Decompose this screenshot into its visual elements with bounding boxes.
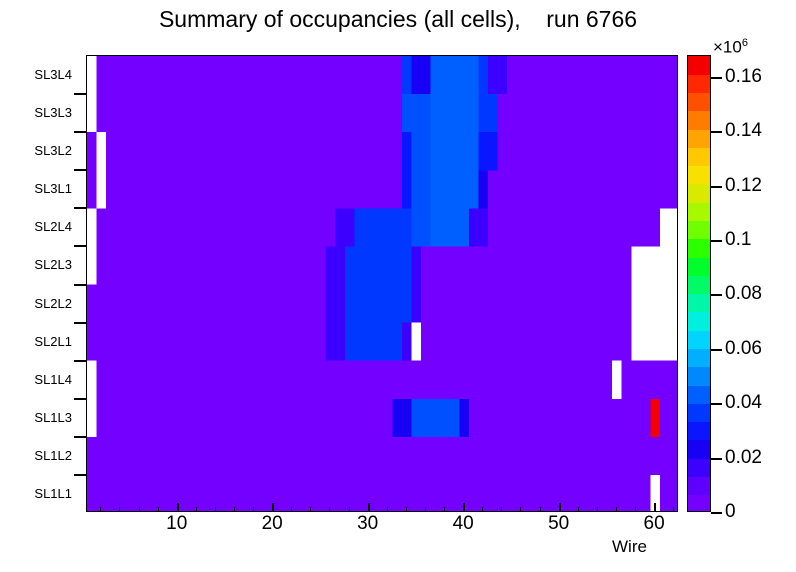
y-axis-tick-label: SL2L1	[0, 335, 72, 348]
x-axis-tick-label: 10	[147, 514, 207, 533]
x-axis-tick-minor	[215, 507, 216, 512]
color-scale-swatch	[688, 129, 710, 148]
y-axis-tick-label: SL3L2	[0, 144, 72, 157]
heatmap-cell	[631, 285, 678, 323]
y-axis-tick-label: SL1L3	[0, 411, 72, 424]
heatmap-cell	[431, 56, 479, 94]
heatmap-cell	[87, 208, 97, 246]
heatmap-cell	[412, 56, 431, 94]
heatmap-cell	[87, 246, 97, 284]
x-axis-tick-minor	[158, 507, 159, 512]
root-canvas: Summary of occupancies (all cells), run …	[0, 0, 796, 572]
color-scale-exponent-base: ×10	[713, 38, 742, 57]
heatmap-cell	[412, 323, 422, 361]
x-axis-tick-minor	[119, 507, 120, 512]
y-axis-tick-mark	[74, 169, 86, 171]
heatmap-cell	[87, 285, 326, 323]
color-scale-tick-mark	[711, 349, 722, 351]
x-axis-tick-minor	[139, 507, 140, 512]
color-scale-exponent-power: 6	[742, 37, 748, 49]
color-scale-swatch	[688, 440, 710, 459]
x-axis-tick-label: 40	[433, 514, 493, 533]
y-axis-tick-label: SL3L1	[0, 182, 72, 195]
heatmap-cell	[326, 246, 345, 284]
color-scale-bar	[687, 55, 711, 512]
color-scale-swatch	[688, 221, 710, 240]
heatmap-cell	[459, 399, 469, 437]
heatmap-cell	[478, 132, 497, 170]
x-axis-tick-minor	[616, 507, 617, 512]
heatmap-cell	[87, 361, 97, 399]
color-scale-swatch	[688, 294, 710, 313]
x-axis-tick-label: 50	[529, 514, 589, 533]
y-axis-tick-mark	[74, 245, 86, 247]
heatmap-cell	[478, 94, 497, 132]
heatmap-cell	[87, 323, 326, 361]
heatmap-cell	[498, 132, 678, 170]
color-scale-tick-label: 0	[725, 502, 736, 521]
heatmap-cell	[412, 208, 431, 246]
x-axis-tick-minor	[100, 507, 101, 512]
color-scale-swatch	[688, 93, 710, 112]
heatmap-cell	[97, 56, 403, 94]
heatmap-cell	[345, 246, 412, 284]
x-axis-tick-major	[368, 503, 370, 512]
x-axis-tick-minor	[349, 507, 350, 512]
heatmap-plot-area[interactable]	[86, 55, 678, 512]
heatmap-cell	[412, 399, 460, 437]
x-axis-tick-minor	[406, 507, 407, 512]
heatmap-cell	[469, 208, 488, 246]
heatmap-cells	[87, 56, 678, 512]
heatmap-cell	[326, 323, 345, 361]
color-scale-swatch	[688, 111, 710, 130]
heatmap-cell	[660, 208, 678, 246]
x-axis-tick-label: 30	[338, 514, 398, 533]
x-axis-tick-minor	[234, 507, 235, 512]
color-scale-swatch	[688, 312, 710, 331]
heatmap-cell	[469, 399, 650, 437]
heatmap-cell	[97, 361, 613, 399]
heatmap-cell	[106, 170, 402, 208]
color-scale-tick-label: 0.02	[725, 448, 762, 467]
heatmap-cell	[402, 323, 412, 361]
heatmap-cell	[421, 285, 631, 323]
x-axis-tick-minor	[425, 507, 426, 512]
color-scale-swatch	[688, 348, 710, 367]
color-scale-swatch	[688, 476, 710, 495]
y-axis-tick-label: SL1L2	[0, 449, 72, 462]
x-axis-tick-minor	[520, 507, 521, 512]
heatmap-cell	[87, 94, 97, 132]
y-axis-tick-mark	[74, 398, 86, 400]
heatmap-cell	[87, 170, 97, 208]
y-axis-tick-mark	[74, 322, 86, 324]
heatmap-cell	[478, 56, 488, 94]
color-scale-swatch	[688, 257, 710, 276]
heatmap-cell	[402, 56, 412, 94]
color-scale-tick-mark	[711, 77, 722, 79]
x-axis-tick-minor	[635, 507, 636, 512]
color-scale-tick-mark	[711, 512, 722, 514]
x-axis-tick-minor	[501, 507, 502, 512]
heatmap-cell	[412, 246, 422, 284]
color-scale-tick-mark	[711, 458, 722, 460]
heatmap-cell	[498, 94, 678, 132]
heatmap-cell	[650, 399, 660, 437]
x-axis-tick-label: 20	[242, 514, 302, 533]
heatmap-cell	[431, 208, 469, 246]
color-scale-swatch	[688, 330, 710, 349]
color-scale-tick-label: 0.08	[725, 284, 762, 303]
x-axis-tick-minor	[444, 507, 445, 512]
y-axis-tick-mark	[74, 207, 86, 209]
heatmap-cell	[412, 132, 431, 170]
heatmap-cell	[412, 170, 431, 208]
x-axis-tick-major	[654, 503, 656, 512]
heatmap-cell	[97, 246, 326, 284]
heatmap-cell	[87, 437, 678, 475]
color-scale-tick-mark	[711, 403, 722, 405]
heatmap-cell	[87, 56, 97, 94]
heatmap-cell	[97, 208, 336, 246]
x-axis-tick-minor	[310, 507, 311, 512]
color-scale-tick-mark	[711, 294, 722, 296]
x-axis-tick-minor	[253, 507, 254, 512]
heatmap-cell	[431, 170, 479, 208]
color-scale-swatch	[688, 458, 710, 477]
x-axis-tick-major	[272, 503, 274, 512]
y-axis-tick-mark	[74, 360, 86, 362]
heatmap-cell	[354, 208, 411, 246]
x-axis-tick-major	[177, 503, 179, 512]
color-scale-swatch	[688, 202, 710, 221]
color-scale-tick-mark	[711, 240, 722, 242]
y-axis-tick-mark	[74, 436, 86, 438]
heatmap-cell	[97, 170, 107, 208]
heatmap-cell	[488, 208, 660, 246]
heatmap-cell	[431, 94, 479, 132]
heatmap-cell	[431, 132, 479, 170]
page-title: Summary of occupancies (all cells), run …	[0, 6, 796, 33]
heatmap-cell	[631, 323, 678, 361]
heatmap-cell	[87, 132, 97, 170]
y-axis-tick-mark	[74, 131, 86, 133]
color-scale-tick-label: 0.06	[725, 339, 762, 358]
color-scale-swatch	[688, 184, 710, 203]
heatmap-cell	[478, 170, 488, 208]
color-scale-swatch	[688, 56, 710, 75]
heatmap-cell	[393, 399, 412, 437]
x-axis-tick-major	[559, 503, 561, 512]
heatmap-cell	[402, 94, 431, 132]
x-axis-tick-major	[463, 503, 465, 512]
y-axis-tick-mark	[74, 284, 86, 286]
x-axis-tick-minor	[482, 507, 483, 512]
color-scale-swatch	[688, 495, 710, 512]
heatmap-cell	[335, 208, 354, 246]
heatmap-cell	[87, 399, 97, 437]
color-scale-swatch	[688, 367, 710, 386]
heatmap-cell	[488, 170, 678, 208]
x-axis-tick-minor	[196, 507, 197, 512]
color-scale-swatch	[688, 275, 710, 294]
color-scale-tick-mark	[711, 131, 722, 133]
heatmap-cell	[97, 94, 403, 132]
color-scale-swatch	[688, 422, 710, 441]
x-axis-tick-minor	[291, 507, 292, 512]
color-scale-swatch	[688, 239, 710, 258]
heatmap-cell	[631, 246, 678, 284]
y-axis-tick-label: SL2L2	[0, 297, 72, 310]
x-axis-tick-minor	[673, 507, 674, 512]
x-axis-tick-minor	[329, 507, 330, 512]
color-scale-tick-label: 0.12	[725, 176, 762, 195]
x-axis-tick-label: 60	[624, 514, 684, 533]
y-axis-tick-label: SL1L4	[0, 373, 72, 386]
heatmap-cell	[622, 361, 678, 399]
heatmap-cell	[326, 285, 345, 323]
heatmap-cell	[412, 285, 422, 323]
x-axis-tick-minor	[540, 507, 541, 512]
color-scale-tick-mark	[711, 186, 722, 188]
heatmap-cell	[488, 56, 507, 94]
color-scale-swatch	[688, 385, 710, 404]
color-scale-exponent: ×106	[713, 37, 748, 58]
color-scale-tick-label: 0.16	[725, 67, 762, 86]
color-scale-swatch	[688, 403, 710, 422]
x-axis-tick-minor	[597, 507, 598, 512]
heatmap-cell	[402, 170, 412, 208]
heatmap-cell	[507, 56, 678, 94]
x-axis-tick-minor	[387, 507, 388, 512]
heatmap-cell	[421, 246, 631, 284]
color-scale-tick-label: 0.04	[725, 393, 762, 412]
y-axis-tick-label: SL2L3	[0, 258, 72, 271]
heatmap-cell	[612, 361, 622, 399]
heatmap-cell	[97, 132, 107, 170]
y-axis: SL1L1SL1L2SL1L3SL1L4SL2L1SL2L2SL2L3SL2L4…	[0, 55, 72, 512]
heatmap-cell	[345, 323, 402, 361]
heatmap-cell	[106, 132, 402, 170]
heatmap-cell	[660, 399, 678, 437]
color-scale-swatch	[688, 166, 710, 185]
color-scale-swatch	[688, 74, 710, 93]
heatmap-cell	[345, 285, 412, 323]
x-axis-tick-minor	[578, 507, 579, 512]
heatmap-cell	[421, 323, 631, 361]
y-axis-tick-label: SL3L3	[0, 106, 72, 119]
y-axis-tick-label: SL3L4	[0, 68, 72, 81]
heatmap-cell	[402, 132, 412, 170]
y-axis-tick-mark	[74, 93, 86, 95]
heatmap-cell	[97, 399, 393, 437]
heatmap-cell	[660, 475, 678, 512]
color-scale-tick-label: 0.14	[725, 121, 762, 140]
y-axis-tick-label: SL2L4	[0, 220, 72, 233]
y-axis-tick-label: SL1L1	[0, 487, 72, 500]
color-scale-swatch	[688, 147, 710, 166]
y-axis-tick-mark	[74, 474, 86, 476]
x-axis-title: Wire	[612, 537, 647, 557]
color-scale-tick-label: 0.1	[725, 230, 751, 249]
